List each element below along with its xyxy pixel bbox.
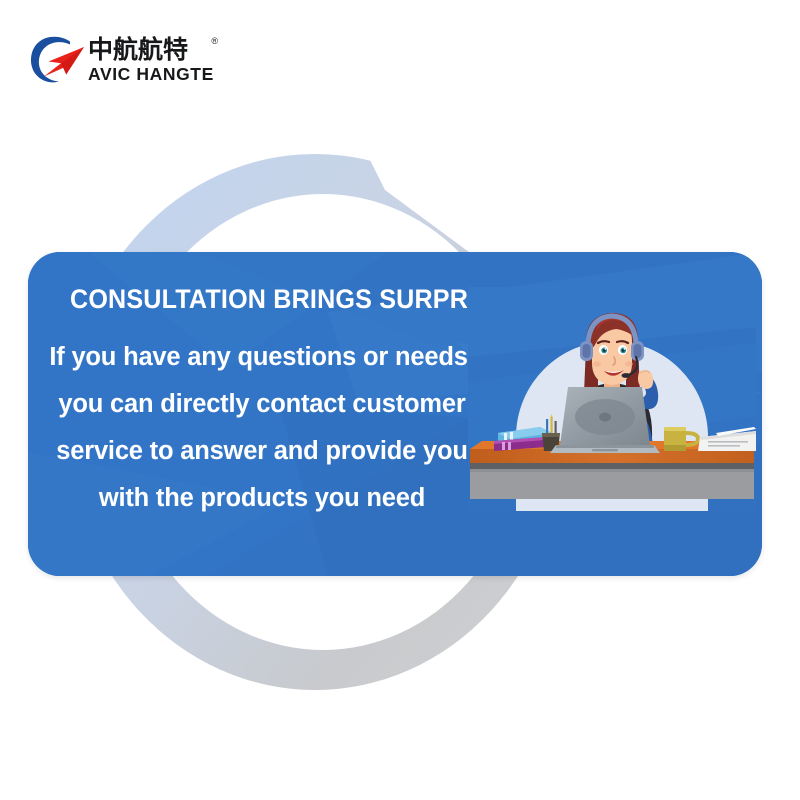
card-text-block: CONSULTATION BRINGS SURPRISES If you hav…: [36, 252, 476, 576]
customer-service-agent-illustration: [468, 287, 756, 511]
poster-canvas: 中航航特 ® AVIC HANGTE CONSULTATION BRINGS S…: [0, 0, 800, 800]
card-title: CONSULTATION BRINGS SURPRISES: [70, 284, 461, 315]
brand-logo: 中航航特 ® AVIC HANGTE: [26, 34, 216, 90]
pen-blue: [546, 419, 548, 433]
desk-front-panel: [470, 469, 754, 499]
desk-shadow-band: [470, 463, 754, 469]
registered-trademark-icon: ®: [211, 36, 218, 46]
pen-yellow: [551, 417, 553, 433]
headset-mic: [622, 373, 631, 378]
logo-wordmark: 中航航特 ® AVIC HANGTE: [88, 36, 216, 86]
logo-chinese-name: 中航航特: [88, 36, 216, 63]
pencil: [555, 421, 557, 433]
card-body-text: If you have any questions or needs, you …: [46, 334, 478, 522]
swoosh-arrow-logo-icon: [26, 34, 88, 86]
logo-english-name: AVIC HANGTE: [88, 63, 216, 85]
